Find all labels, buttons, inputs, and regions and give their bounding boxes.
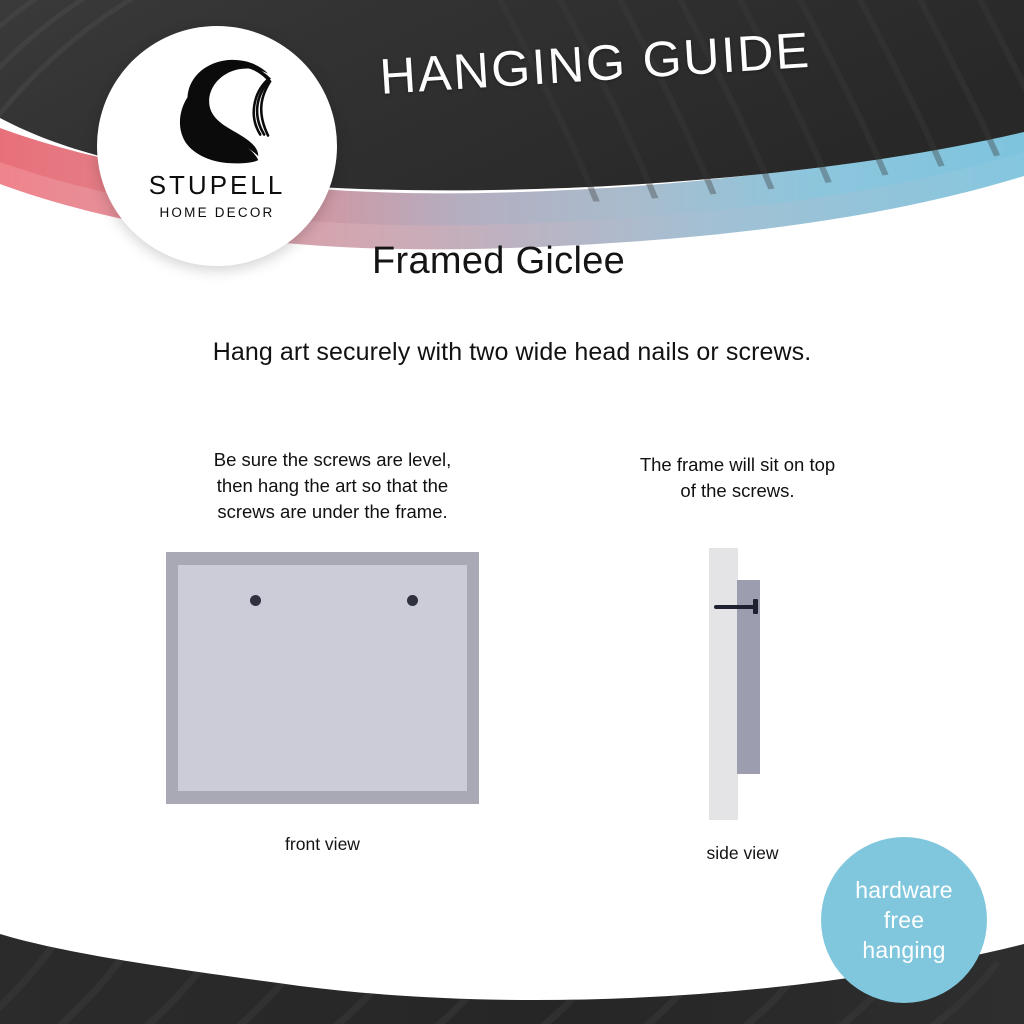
badge-line-1: hardware [855,875,953,905]
hardware-free-hanging-badge: hardware free hanging [821,837,987,1003]
brand-name: STUPELL [149,170,286,201]
instruction-line: of the screws. [585,478,890,504]
front-view-instruction: Be sure the screws are level, then hang … [160,447,505,525]
lead-instruction-text: Hang art securely with two wide head nai… [0,338,1024,367]
page-title: HANGING GUIDE [378,21,812,106]
side-view-caption: side view [660,843,825,864]
screw-dot-left-icon [250,595,261,606]
instruction-line: Be sure the screws are level, [160,447,505,473]
side-view-frame-diagram [700,548,786,820]
nail-shaft-icon [714,605,756,609]
wall-bar [709,548,738,820]
side-view-instruction: The frame will sit on top of the screws. [585,452,890,504]
front-view-frame-diagram [166,552,479,804]
brand-tagline: HOME DECOR [159,205,274,220]
front-view-caption: front view [166,834,479,855]
instruction-line: screws are under the frame. [160,499,505,525]
screw-dot-right-icon [407,595,418,606]
instruction-line: The frame will sit on top [585,452,890,478]
instruction-line: then hang the art so that the [160,473,505,499]
badge-line-3: hanging [862,935,945,965]
brand-logo-badge: STUPELL HOME DECOR [97,26,337,266]
hanging-guide-page: STUPELL HOME DECOR HANGING GUIDE Framed … [0,0,1024,1024]
badge-line-2: free [884,905,924,935]
nail-head-icon [753,599,758,614]
product-type-title: Framed Giclee [372,240,625,283]
stupell-swoosh-logo-icon [158,52,276,164]
front-view-art-panel [178,565,467,791]
